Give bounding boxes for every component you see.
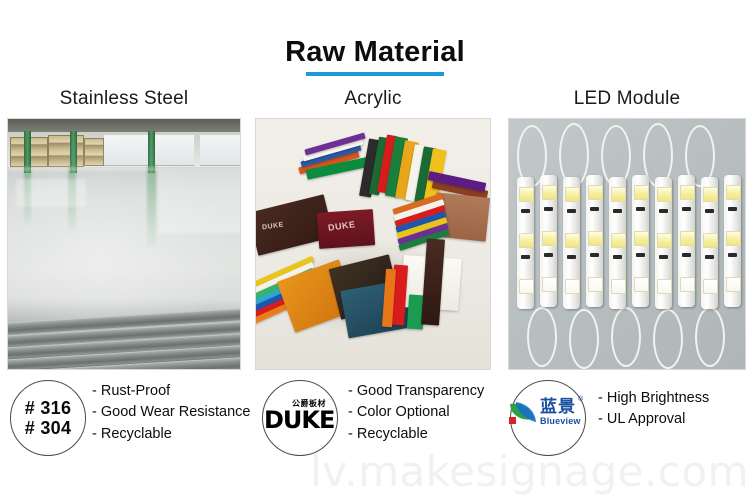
led-chip — [565, 279, 580, 294]
connector-wire — [527, 307, 557, 367]
led-module — [678, 175, 695, 307]
connector-wire — [653, 309, 683, 369]
resistor — [544, 207, 553, 211]
bullet-item: - Color Optional — [348, 402, 506, 423]
page-title: Raw Material — [0, 36, 750, 69]
duke-chinese-name: 公爵板材 — [292, 400, 326, 408]
resistor — [659, 255, 668, 259]
duke-wordmark: DUKE — [264, 408, 334, 432]
feature-bullets: - Rust-Proof - Good Wear Resistance - Re… — [92, 381, 250, 445]
led-module — [517, 177, 534, 309]
duke-logo: DUKE 公爵板材 — [264, 400, 346, 434]
led-module — [540, 175, 557, 307]
bullet-item: - UL Approval — [598, 409, 750, 430]
connector-wire — [611, 307, 641, 367]
photo-acrylic-sheets: DUKE DUKE — [255, 118, 491, 370]
raw-material-infographic: Raw Material Stainless Steel Acrylic LED… — [0, 0, 750, 497]
resistor — [636, 253, 645, 257]
led-chip — [634, 231, 649, 246]
led-chip — [611, 187, 626, 202]
registered-trademark-icon: ® — [578, 396, 583, 403]
bullet-item: - Good Transparency — [348, 381, 506, 402]
resistor — [682, 207, 691, 211]
resistor — [705, 255, 714, 259]
grade-code-304: # 304 — [25, 418, 72, 438]
blueview-logo: 蓝景 Blueview ® — [508, 398, 594, 438]
blueview-swirl-icon — [508, 400, 538, 426]
bullet-item: - Rust-Proof — [92, 381, 250, 402]
led-module — [724, 175, 741, 307]
photo-stainless-steel — [7, 118, 241, 370]
column-header-led-module: LED Module — [508, 88, 746, 110]
column-header-stainless-steel: Stainless Steel — [7, 88, 241, 110]
led-module — [655, 177, 672, 309]
led-chip — [703, 233, 718, 248]
bullet-item: - Recyclable — [92, 424, 250, 445]
led-chip — [519, 233, 534, 248]
resistor — [567, 255, 576, 259]
led-chip — [726, 277, 741, 292]
led-chip — [542, 277, 557, 292]
led-chip — [726, 231, 741, 246]
led-chip — [588, 277, 603, 292]
led-chip — [703, 279, 718, 294]
column-header-acrylic: Acrylic — [255, 88, 491, 110]
resistor — [521, 209, 530, 213]
led-chip — [726, 185, 741, 200]
led-chip — [588, 185, 603, 200]
bullet-item: - Good Wear Resistance — [92, 402, 250, 423]
blueview-chinese-name: 蓝景 — [540, 398, 576, 415]
led-chip — [680, 185, 695, 200]
resistor — [590, 207, 599, 211]
feature-bullets: - Good Transparency - Color Optional - R… — [348, 381, 506, 445]
led-chip — [634, 185, 649, 200]
resistor — [659, 209, 668, 213]
led-chip — [657, 279, 672, 294]
led-chip — [542, 231, 557, 246]
led-chip — [611, 279, 626, 294]
led-chip — [588, 231, 603, 246]
resistor — [636, 207, 645, 211]
led-chip — [542, 185, 557, 200]
site-watermark: lv.makesignage.com — [310, 447, 749, 496]
led-module — [586, 175, 603, 307]
led-chip — [565, 187, 580, 202]
led-chip — [634, 277, 649, 292]
led-chip — [680, 277, 695, 292]
led-module — [701, 177, 718, 309]
resistor — [590, 253, 599, 257]
resistor — [544, 253, 553, 257]
led-module — [563, 177, 580, 309]
led-chip — [680, 231, 695, 246]
grade-badge: # 316 # 304 — [10, 380, 86, 456]
led-chip — [611, 233, 626, 248]
led-chip — [519, 187, 534, 202]
led-module — [609, 177, 626, 309]
led-chip — [657, 233, 672, 248]
resistor — [613, 255, 622, 259]
resistor — [567, 209, 576, 213]
led-chip — [565, 233, 580, 248]
led-chip — [703, 187, 718, 202]
title-underline-accent — [306, 72, 444, 76]
connector-wire — [569, 309, 599, 369]
resistor — [613, 209, 622, 213]
photo-led-modules — [508, 118, 746, 370]
resistor — [728, 253, 737, 257]
connector-wire — [695, 307, 725, 367]
bullet-item: - High Brightness — [598, 388, 750, 409]
led-chip — [657, 187, 672, 202]
led-module — [632, 175, 649, 307]
blueview-wordmark: Blueview — [540, 417, 581, 426]
feature-bullets: - High Brightness - UL Approval — [598, 388, 750, 431]
led-chip — [519, 279, 534, 294]
resistor — [682, 253, 691, 257]
feature-block-stainless-steel: # 316 # 304 - Rust-Proof - Good Wear Res… — [4, 378, 252, 462]
resistor — [521, 255, 530, 259]
resistor — [728, 207, 737, 211]
resistor — [705, 209, 714, 213]
grade-code-316: # 316 — [25, 398, 72, 418]
bullet-item: - Recyclable — [348, 424, 506, 445]
